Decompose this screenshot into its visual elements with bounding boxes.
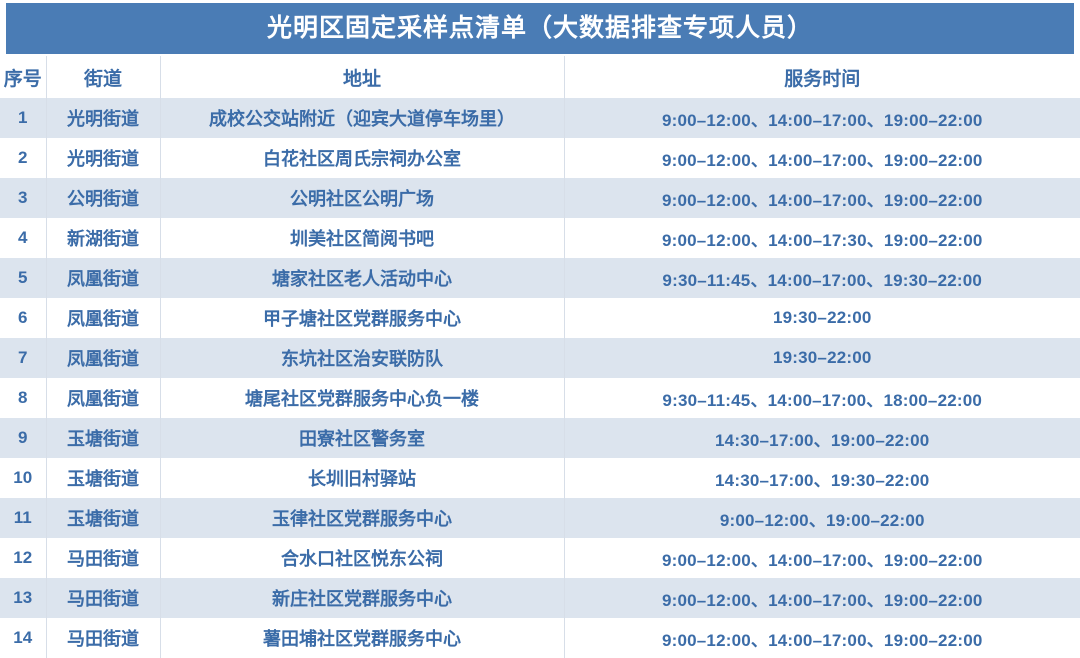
- cell-street: 光明街道: [46, 138, 160, 178]
- table-row: 7凤凰街道东坑社区治安联防队19:30–22:00: [0, 338, 1080, 378]
- cell-hours: 19:30–22:00: [564, 298, 1080, 338]
- cell-hours: 9:00–12:00、14:00–17:00、19:00–22:00: [564, 98, 1080, 138]
- page-title: 光明区固定采样点清单（大数据排查专项人员）: [267, 16, 813, 41]
- table-body: 1光明街道成校公交站附近（迎宾大道停车场里）9:00–12:00、14:00–1…: [0, 98, 1080, 658]
- cell-seq: 1: [0, 98, 46, 138]
- cell-address: 玉律社区党群服务中心: [160, 498, 564, 538]
- cell-seq: 7: [0, 338, 46, 378]
- cell-hours: 9:00–12:00、14:00–17:30、19:00–22:00: [564, 218, 1080, 258]
- cell-street: 马田街道: [46, 618, 160, 658]
- table-row: 11玉塘街道玉律社区党群服务中心9:00–12:00、19:00–22:00: [0, 498, 1080, 538]
- table-row: 8凤凰街道塘尾社区党群服务中心负一楼9:30–11:45、14:00–17:00…: [0, 378, 1080, 418]
- cell-address: 长圳旧村驿站: [160, 458, 564, 498]
- cell-hours: 9:30–11:45、14:00–17:00、18:00–22:00: [564, 378, 1080, 418]
- table-row: 9玉塘街道田寮社区警务室14:30–17:00、19:00–22:00: [0, 418, 1080, 458]
- cell-seq: 11: [0, 498, 46, 538]
- sampling-site-table: 序号 街道 地址 服务时间 1光明街道成校公交站附近（迎宾大道停车场里）9:00…: [0, 56, 1080, 658]
- table-row: 13马田街道新庄社区党群服务中心9:00–12:00、14:00–17:00、1…: [0, 578, 1080, 618]
- cell-street: 凤凰街道: [46, 298, 160, 338]
- cell-street: 马田街道: [46, 538, 160, 578]
- cell-seq: 6: [0, 298, 46, 338]
- table-header-row: 序号 街道 地址 服务时间: [0, 56, 1080, 98]
- table-header: 序号 街道 地址 服务时间: [0, 56, 1080, 98]
- cell-street: 凤凰街道: [46, 338, 160, 378]
- cell-seq: 13: [0, 578, 46, 618]
- cell-address: 薯田埔社区党群服务中心: [160, 618, 564, 658]
- cell-hours: 19:30–22:00: [564, 338, 1080, 378]
- cell-street: 马田街道: [46, 578, 160, 618]
- cell-street: 凤凰街道: [46, 378, 160, 418]
- table-row: 3公明街道公明社区公明广场9:00–12:00、14:00–17:00、19:0…: [0, 178, 1080, 218]
- sampling-site-table-container: 序号 街道 地址 服务时间 1光明街道成校公交站附近（迎宾大道停车场里）9:00…: [0, 56, 1080, 658]
- cell-address: 新庄社区党群服务中心: [160, 578, 564, 618]
- table-row: 4新湖街道圳美社区简阅书吧9:00–12:00、14:00–17:30、19:0…: [0, 218, 1080, 258]
- cell-street: 凤凰街道: [46, 258, 160, 298]
- cell-hours: 9:00–12:00、14:00–17:00、19:00–22:00: [564, 138, 1080, 178]
- cell-address: 公明社区公明广场: [160, 178, 564, 218]
- table-row: 1光明街道成校公交站附近（迎宾大道停车场里）9:00–12:00、14:00–1…: [0, 98, 1080, 138]
- cell-address: 成校公交站附近（迎宾大道停车场里）: [160, 98, 564, 138]
- table-row: 14马田街道薯田埔社区党群服务中心9:00–12:00、14:00–17:00、…: [0, 618, 1080, 658]
- cell-address: 东坑社区治安联防队: [160, 338, 564, 378]
- cell-address: 塘尾社区党群服务中心负一楼: [160, 378, 564, 418]
- cell-hours: 9:30–11:45、14:00–17:00、19:30–22:00: [564, 258, 1080, 298]
- table-row: 2光明街道白花社区周氏宗祠办公室9:00–12:00、14:00–17:00、1…: [0, 138, 1080, 178]
- cell-street: 玉塘街道: [46, 458, 160, 498]
- column-header-seq: 序号: [0, 56, 46, 98]
- cell-address: 白花社区周氏宗祠办公室: [160, 138, 564, 178]
- cell-seq: 5: [0, 258, 46, 298]
- sampling-site-list-page: 光明区固定采样点清单（大数据排查专项人员） 序号 街道 地址 服务时间 1光明街…: [0, 0, 1080, 658]
- table-row: 6凤凰街道甲子塘社区党群服务中心19:30–22:00: [0, 298, 1080, 338]
- table-row: 12马田街道合水口社区悦东公祠9:00–12:00、14:00–17:00、19…: [0, 538, 1080, 578]
- cell-address: 圳美社区简阅书吧: [160, 218, 564, 258]
- cell-seq: 12: [0, 538, 46, 578]
- cell-street: 玉塘街道: [46, 498, 160, 538]
- cell-seq: 3: [0, 178, 46, 218]
- column-header-hours: 服务时间: [564, 56, 1080, 98]
- cell-address: 塘家社区老人活动中心: [160, 258, 564, 298]
- cell-street: 公明街道: [46, 178, 160, 218]
- cell-hours: 14:30–17:00、19:00–22:00: [564, 418, 1080, 458]
- cell-street: 玉塘街道: [46, 418, 160, 458]
- cell-seq: 10: [0, 458, 46, 498]
- cell-address: 合水口社区悦东公祠: [160, 538, 564, 578]
- cell-address: 甲子塘社区党群服务中心: [160, 298, 564, 338]
- cell-seq: 14: [0, 618, 46, 658]
- cell-seq: 9: [0, 418, 46, 458]
- table-row: 5凤凰街道塘家社区老人活动中心9:30–11:45、14:00–17:00、19…: [0, 258, 1080, 298]
- cell-hours: 9:00–12:00、14:00–17:00、19:00–22:00: [564, 178, 1080, 218]
- cell-street: 新湖街道: [46, 218, 160, 258]
- cell-hours: 9:00–12:00、19:00–22:00: [564, 498, 1080, 538]
- page-title-banner: 光明区固定采样点清单（大数据排查专项人员）: [6, 3, 1074, 54]
- cell-hours: 9:00–12:00、14:00–17:00、19:00–22:00: [564, 578, 1080, 618]
- column-header-street: 街道: [46, 56, 160, 98]
- cell-hours: 14:30–17:00、19:30–22:00: [564, 458, 1080, 498]
- cell-seq: 8: [0, 378, 46, 418]
- cell-hours: 9:00–12:00、14:00–17:00、19:00–22:00: [564, 538, 1080, 578]
- cell-seq: 4: [0, 218, 46, 258]
- cell-seq: 2: [0, 138, 46, 178]
- cell-address: 田寮社区警务室: [160, 418, 564, 458]
- cell-street: 光明街道: [46, 98, 160, 138]
- cell-hours: 9:00–12:00、14:00–17:00、19:00–22:00: [564, 618, 1080, 658]
- column-header-address: 地址: [160, 56, 564, 98]
- table-row: 10玉塘街道长圳旧村驿站14:30–17:00、19:30–22:00: [0, 458, 1080, 498]
